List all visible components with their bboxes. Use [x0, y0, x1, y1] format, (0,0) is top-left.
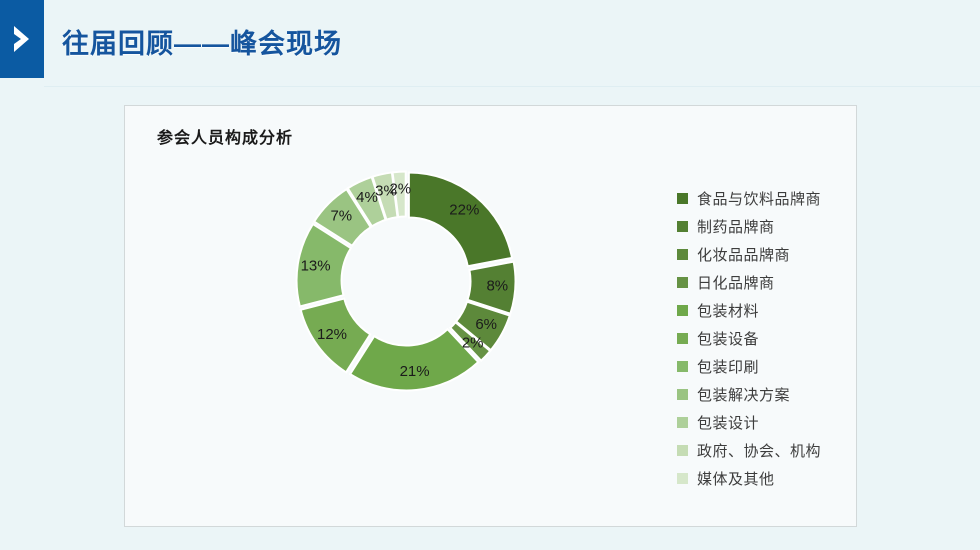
legend-swatch-icon: [677, 277, 688, 288]
legend-item[interactable]: 政府、协会、机构: [677, 436, 857, 464]
legend-swatch-icon: [677, 221, 688, 232]
legend-item[interactable]: 包装印刷: [677, 352, 857, 380]
legend-item[interactable]: 包装解决方案: [677, 380, 857, 408]
legend-item[interactable]: 包装设计: [677, 408, 857, 436]
legend-item[interactable]: 化妆品品牌商: [677, 240, 857, 268]
doughnut-slice-label: 2%: [389, 181, 411, 198]
legend-item[interactable]: 食品与饮料品牌商: [677, 184, 857, 212]
legend-swatch-icon: [677, 473, 688, 484]
doughnut-chart-svg: 22%8%6%2%21%12%13%7%4%3%2%: [276, 151, 536, 411]
legend-item-label: 包装设备: [697, 328, 759, 349]
legend-item-label: 政府、协会、机构: [697, 440, 821, 461]
legend-item[interactable]: 媒体及其他: [677, 464, 857, 492]
legend-item-label: 包装材料: [697, 300, 759, 321]
legend-swatch-icon: [677, 333, 688, 344]
legend-item-label: 媒体及其他: [697, 468, 775, 489]
legend-item-label: 制药品牌商: [697, 216, 775, 237]
legend-swatch-icon: [677, 417, 688, 428]
doughnut-slice-label: 6%: [475, 316, 497, 333]
doughnut-slice-label: 7%: [330, 207, 352, 224]
page-header: 往届回顾——峰会现场: [0, 0, 980, 88]
legend-item-label: 包装印刷: [697, 356, 759, 377]
doughnut-slice-label: 21%: [400, 363, 430, 380]
doughnut-slices: [297, 172, 516, 391]
legend-swatch-icon: [677, 445, 688, 456]
doughnut-slice-label: 22%: [449, 201, 479, 218]
legend-item[interactable]: 包装材料: [677, 296, 857, 324]
legend-item[interactable]: 包装设备: [677, 324, 857, 352]
doughnut-slice-label: 13%: [301, 258, 331, 275]
legend-item-label: 化妆品品牌商: [697, 244, 790, 265]
chevron-right-icon: [11, 24, 33, 54]
chart-panel: 参会人员构成分析 22%8%6%2%21%12%13%7%4%3%2% 食品与饮…: [124, 105, 857, 527]
legend-item-label: 食品与饮料品牌商: [697, 188, 821, 209]
header-divider: [44, 86, 980, 87]
doughnut-slice-label: 2%: [462, 335, 484, 352]
legend-swatch-icon: [677, 305, 688, 316]
legend-item-label: 包装解决方案: [697, 384, 790, 405]
legend-item-label: 日化品牌商: [697, 272, 775, 293]
page-title: 往届回顾——峰会现场: [62, 22, 342, 61]
legend-item-label: 包装设计: [697, 412, 759, 433]
legend-item[interactable]: 日化品牌商: [677, 268, 857, 296]
legend-item[interactable]: 制药品牌商: [677, 212, 857, 240]
legend-swatch-icon: [677, 193, 688, 204]
chart-legend: 食品与饮料品牌商制药品牌商化妆品品牌商日化品牌商包装材料包装设备包装印刷包装解决…: [677, 184, 857, 492]
doughnut-slice[interactable]: [409, 173, 512, 267]
doughnut-slice-label: 8%: [486, 278, 508, 295]
doughnut-slice-label: 12%: [317, 326, 347, 343]
legend-swatch-icon: [677, 361, 688, 372]
legend-swatch-icon: [677, 249, 688, 260]
legend-swatch-icon: [677, 389, 688, 400]
